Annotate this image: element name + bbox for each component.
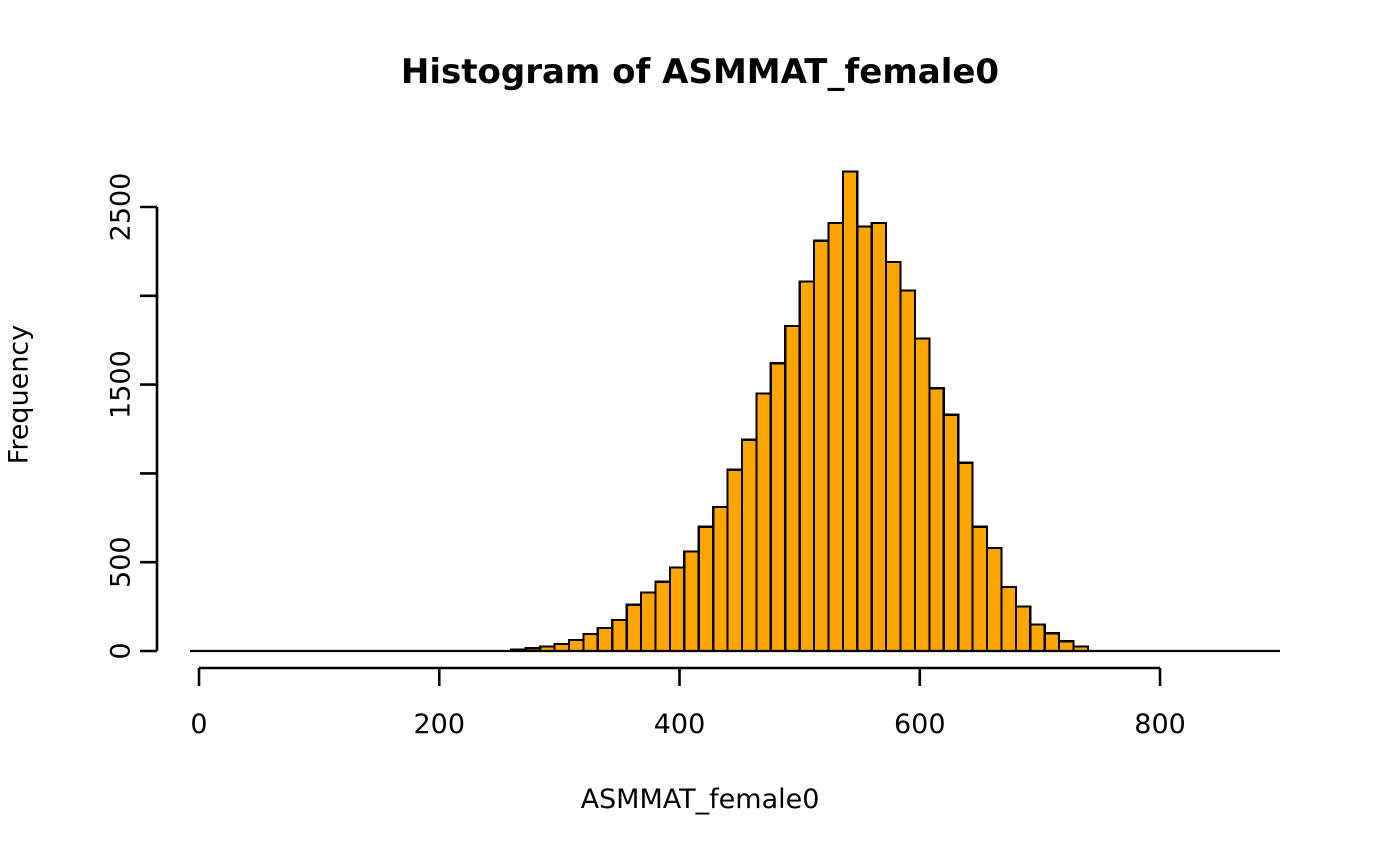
histogram-bar <box>569 640 583 651</box>
histogram-bars <box>511 171 1088 651</box>
histogram-bar <box>713 507 727 651</box>
x-tick-label: 600 <box>894 709 946 740</box>
histogram-bar <box>598 628 612 651</box>
x-axis <box>199 668 1160 686</box>
histogram-bar <box>655 582 669 651</box>
histogram-bar <box>771 363 785 651</box>
x-tick-labels: 0200400600800 <box>190 709 1185 740</box>
histogram-bar <box>958 463 972 651</box>
x-tick-label: 400 <box>654 709 706 740</box>
histogram-bar <box>742 440 756 651</box>
x-tick-label: 0 <box>190 709 207 740</box>
histogram-bar <box>1059 641 1073 651</box>
histogram-bar <box>612 620 626 651</box>
histogram-bar <box>800 282 814 651</box>
y-tick-label: 2500 <box>106 173 137 242</box>
histogram-bar <box>973 527 987 651</box>
histogram-bar <box>886 262 900 651</box>
x-tick-label: 800 <box>1134 709 1186 740</box>
y-tick-label: 1500 <box>106 350 137 419</box>
histogram-bar <box>699 527 713 651</box>
histogram-bar <box>583 634 597 651</box>
histogram-bar <box>944 415 958 651</box>
histogram-bar <box>915 338 929 651</box>
histogram-bar <box>785 326 799 651</box>
plot-area: 050015002500 0200400600800 <box>0 0 1400 866</box>
histogram-bar <box>929 388 943 651</box>
histogram-bar <box>857 227 871 651</box>
histogram-bar <box>901 290 915 651</box>
y-tick-label: 500 <box>106 536 137 588</box>
histogram-bar <box>1016 607 1030 651</box>
histogram-bar <box>684 552 698 651</box>
y-axis <box>140 207 157 651</box>
y-tick-label: 0 <box>106 642 137 659</box>
histogram-bar <box>728 470 742 651</box>
histogram-bar <box>670 568 684 651</box>
histogram-bar <box>641 592 655 651</box>
x-tick-label: 200 <box>413 709 465 740</box>
histogram-bar <box>627 605 641 651</box>
y-tick-labels: 050015002500 <box>106 173 137 660</box>
histogram-bar <box>987 548 1001 651</box>
histogram-bar <box>843 171 857 651</box>
histogram-bar <box>1045 633 1059 651</box>
histogram-bar <box>828 223 842 651</box>
histogram-plot: Histogram of ASMMAT_female0 Frequency AS… <box>0 0 1400 866</box>
histogram-bar <box>872 223 886 651</box>
histogram-bar <box>756 393 770 651</box>
histogram-bar <box>814 241 828 651</box>
histogram-bar <box>1001 587 1015 651</box>
histogram-bar <box>1030 624 1044 651</box>
